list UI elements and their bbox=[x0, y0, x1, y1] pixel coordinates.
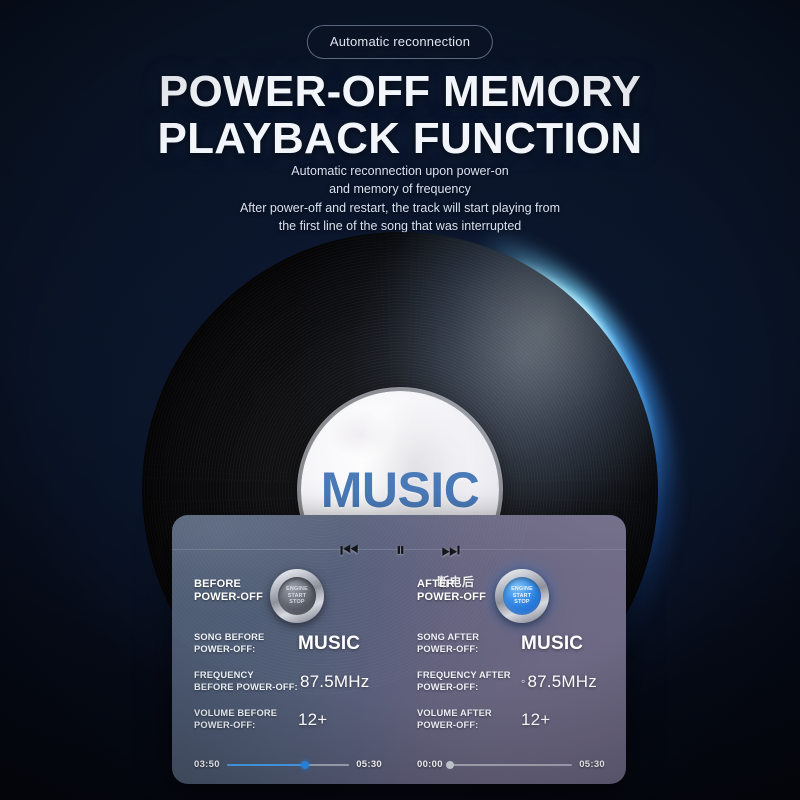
slider-current-time-before: 03:50 bbox=[194, 759, 220, 770]
row-volume-after: VOLUME AFTER POWER-OFF: 12+ bbox=[399, 701, 626, 739]
transport-controls: ⏮ ⏸ ⏭ bbox=[0, 533, 800, 567]
row-value-volume-before: 12+ bbox=[298, 710, 327, 730]
row-label-song-before-l2: POWER-OFF: bbox=[194, 644, 298, 656]
row-label-frequency-before-l2: BEFORE POWER-OFF: bbox=[194, 682, 298, 694]
subtitle-line-2: and memory of frequency bbox=[0, 180, 800, 198]
column-title-after: AFTER POWER-OFF bbox=[417, 578, 486, 605]
row-song-before: SONG BEFORE POWER-OFF: MUSIC bbox=[172, 625, 399, 663]
column-after-power-off: AFTER POWER-OFF 断电后 ENGINE START STOP bbox=[399, 569, 626, 784]
row-song-after: SONG AFTER POWER-OFF: MUSIC bbox=[399, 625, 626, 663]
column-header-before: BEFORE POWER-OFF ENGINE START STOP bbox=[172, 569, 399, 625]
column-before-power-off: BEFORE POWER-OFF ENGINE START STOP bbox=[172, 569, 399, 784]
row-frequency-after: FREQUENCY AFTER POWER-OFF: ◦87.5MHz bbox=[399, 663, 626, 701]
engine-start-stop-button-after[interactable]: ENGINE START STOP bbox=[495, 569, 549, 623]
row-label-frequency-before-l1: FREQUENCY bbox=[194, 670, 298, 682]
engine-button-face-before: ENGINE START STOP bbox=[278, 577, 316, 615]
row-value-song-after: MUSIC bbox=[521, 633, 583, 655]
row-label-frequency-after: FREQUENCY AFTER POWER-OFF: bbox=[417, 670, 521, 694]
row-label-volume-before-l1: VOLUME BEFORE bbox=[194, 708, 298, 720]
pause-icon[interactable]: ⏸ bbox=[396, 541, 405, 560]
row-label-song-before: SONG BEFORE POWER-OFF: bbox=[194, 632, 298, 656]
row-label-volume-before-l2: POWER-OFF: bbox=[194, 720, 298, 732]
slider-current-time-after: 00:00 bbox=[417, 759, 443, 770]
page-title: POWER-OFF MEMORY PLAYBACK FUNCTION bbox=[0, 68, 800, 162]
column-title-after-line-2: POWER-OFF bbox=[417, 591, 486, 604]
feature-badge: Automatic reconnection bbox=[307, 25, 493, 59]
row-label-volume-after: VOLUME AFTER POWER-OFF: bbox=[417, 708, 521, 732]
next-track-icon[interactable]: ⏭ bbox=[441, 540, 460, 561]
row-label-song-after-l2: POWER-OFF: bbox=[417, 644, 521, 656]
column-title-before: BEFORE POWER-OFF bbox=[194, 578, 263, 605]
progress-slider-before[interactable]: 03:50 05:30 bbox=[194, 759, 382, 770]
row-frequency-before: FREQUENCY BEFORE POWER-OFF: 87.5MHz bbox=[172, 663, 399, 701]
row-value-volume-after: 12+ bbox=[521, 710, 550, 730]
slider-knob-before[interactable] bbox=[301, 761, 309, 769]
engine-label-line-2-after: START bbox=[511, 593, 533, 600]
row-value-frequency-after: ◦87.5MHz bbox=[521, 672, 597, 692]
column-title-before-line-1: BEFORE bbox=[194, 578, 263, 591]
frequency-dot-icon-after: ◦ bbox=[521, 674, 525, 688]
page-title-line-1: POWER-OFF MEMORY bbox=[159, 67, 641, 116]
row-label-frequency-after-l1: FREQUENCY AFTER bbox=[417, 670, 521, 682]
row-value-song-before: MUSIC bbox=[298, 633, 360, 655]
column-title-after-line-1: AFTER bbox=[417, 578, 486, 591]
page-title-line-2: PLAYBACK FUNCTION bbox=[0, 115, 800, 162]
row-value-frequency-before: 87.5MHz bbox=[298, 672, 369, 692]
column-title-before-line-2: POWER-OFF bbox=[194, 591, 263, 604]
row-label-volume-after-l2: POWER-OFF: bbox=[417, 720, 521, 732]
slider-knob-after[interactable] bbox=[446, 761, 454, 769]
frequency-text-after: 87.5MHz bbox=[527, 672, 596, 691]
slider-track-before[interactable] bbox=[227, 764, 349, 766]
previous-track-icon[interactable]: ⏮ bbox=[340, 540, 359, 561]
engine-start-stop-button-before[interactable]: ENGINE START STOP bbox=[270, 569, 324, 623]
frequency-text-before: 87.5MHz bbox=[300, 672, 369, 691]
column-header-after: AFTER POWER-OFF 断电后 ENGINE START STOP bbox=[399, 569, 626, 625]
record-label-text: MUSIC bbox=[321, 461, 480, 519]
row-label-song-after-l1: SONG AFTER bbox=[417, 632, 521, 644]
row-label-song-before-l1: SONG BEFORE bbox=[194, 632, 298, 644]
slider-fill-before bbox=[227, 764, 305, 766]
engine-label-line-1-before: ENGINE bbox=[286, 586, 308, 593]
row-volume-before: VOLUME BEFORE POWER-OFF: 12+ bbox=[172, 701, 399, 739]
row-label-frequency-before: FREQUENCY BEFORE POWER-OFF: bbox=[194, 670, 298, 694]
progress-slider-after[interactable]: 00:00 05:30 bbox=[417, 759, 605, 770]
engine-label-line-3-after: STOP bbox=[511, 599, 533, 606]
row-label-song-after: SONG AFTER POWER-OFF: bbox=[417, 632, 521, 656]
slider-track-after[interactable] bbox=[450, 764, 572, 766]
engine-label-line-2-before: START bbox=[286, 593, 308, 600]
engine-button-face-after: ENGINE START STOP bbox=[503, 577, 541, 615]
subtitle-line-3: After power-off and restart, the track w… bbox=[0, 199, 800, 217]
slider-total-time-after: 05:30 bbox=[579, 759, 605, 770]
row-label-volume-after-l1: VOLUME AFTER bbox=[417, 708, 521, 720]
engine-label-line-1-after: ENGINE bbox=[511, 586, 533, 593]
subtitle-line-1: Automatic reconnection upon power-on bbox=[0, 162, 800, 180]
engine-label-line-3-before: STOP bbox=[286, 599, 308, 606]
row-label-frequency-after-l2: POWER-OFF: bbox=[417, 682, 521, 694]
row-label-volume-before: VOLUME BEFORE POWER-OFF: bbox=[194, 708, 298, 732]
slider-total-time-before: 05:30 bbox=[356, 759, 382, 770]
promo-banner: Automatic reconnection POWER-OFF MEMORY … bbox=[0, 0, 800, 800]
